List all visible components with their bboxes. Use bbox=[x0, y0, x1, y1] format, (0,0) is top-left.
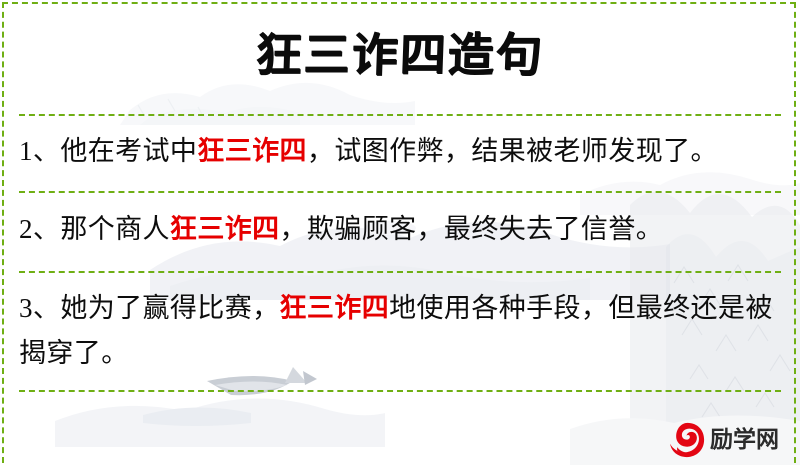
sentence-item-2: 2、那个商人狂三诈四，欺骗顾客，最终失去了信誉。 bbox=[19, 207, 781, 252]
sentence-text-after-2: ，欺骗顾客，最终失去了信誉。 bbox=[280, 214, 664, 244]
sentence-text-before-2: 那个商人 bbox=[60, 214, 170, 244]
divider-line-2 bbox=[19, 191, 781, 193]
divider-line-3 bbox=[19, 271, 781, 273]
site-logo[interactable]: 励学网 bbox=[668, 419, 790, 461]
red-swirl-flame-icon bbox=[668, 421, 706, 459]
sentence-text-before-3: 她为了赢得比赛， bbox=[60, 293, 279, 323]
highlighted-idiom-3: 狂三诈四 bbox=[280, 293, 390, 323]
sentence-number-1: 1、 bbox=[19, 136, 60, 166]
worksheet-page: 狂三诈四造句 1、他在考试中狂三诈四，试图作弊，结果被老师发现了。 2、那个商人… bbox=[0, 0, 800, 465]
divider-line-4 bbox=[19, 390, 781, 392]
sentence-number-2: 2、 bbox=[19, 214, 60, 244]
sentence-item-1: 1、他在考试中狂三诈四，试图作弊，结果被老师发现了。 bbox=[19, 129, 781, 174]
sentence-item-3: 3、她为了赢得比赛，狂三诈四地使用各种手段，但最终还是被揭穿了。 bbox=[19, 286, 781, 376]
highlighted-idiom-2: 狂三诈四 bbox=[170, 214, 280, 244]
logo-text: 励学网 bbox=[710, 427, 779, 453]
sentence-number-3: 3、 bbox=[19, 293, 60, 323]
divider-line-1 bbox=[19, 114, 781, 116]
sentence-text-after-1: ，试图作弊，结果被老师发现了。 bbox=[307, 136, 718, 166]
highlighted-idiom-1: 狂三诈四 bbox=[197, 136, 307, 166]
sentence-text-before-1: 他在考试中 bbox=[60, 136, 197, 166]
page-title: 狂三诈四造句 bbox=[0, 24, 800, 86]
